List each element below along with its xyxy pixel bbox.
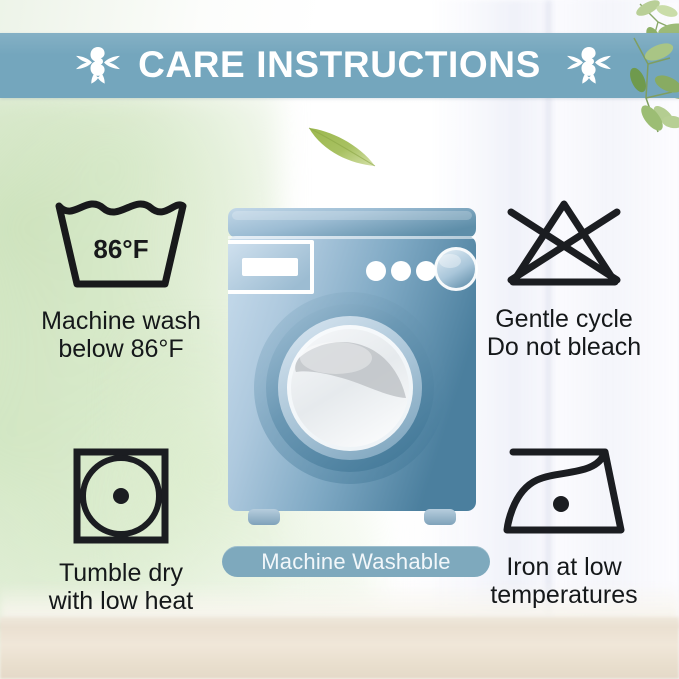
control-dot-3 <box>416 261 436 281</box>
label-line-1: Gentle cycle <box>466 305 662 333</box>
machine-foot-left <box>248 509 280 525</box>
symbol-iron-low: Iron at low temperatures <box>466 446 662 609</box>
status-badge-label: Machine Washable <box>261 549 450 575</box>
symbol-label-do-not-bleach: Gentle cycle Do not bleach <box>466 305 662 361</box>
floating-green-leaf-icon <box>303 118 381 172</box>
label-line-1: Tumble dry <box>26 559 216 587</box>
front-load-washing-machine-icon <box>224 206 480 536</box>
symbol-do-not-bleach: Gentle cycle Do not bleach <box>466 196 662 361</box>
fleur-de-lis-icon-right <box>559 43 611 89</box>
wash-temperature-value: 86°F <box>93 234 148 264</box>
iron-low-icon <box>466 446 662 545</box>
control-dot-1 <box>366 261 386 281</box>
label-line-2: with low heat <box>26 587 216 615</box>
wash-tub-icon: 86°F <box>26 196 216 299</box>
symbol-label-machine-wash: Machine wash below 86°F <box>26 307 216 363</box>
label-line-2: below 86°F <box>26 335 216 363</box>
label-line-1: Iron at low <box>466 553 662 581</box>
tumble-dry-low-icon <box>26 446 216 551</box>
control-dot-2 <box>391 261 411 281</box>
symbol-label-iron-low: Iron at low temperatures <box>466 553 662 609</box>
bleach-triangle-crossed-icon <box>466 196 662 297</box>
care-instructions-graphic: CARE INSTRUCTIONS <box>0 0 679 679</box>
symbol-machine-wash: 86°F Machine wash below 86°F <box>26 196 216 363</box>
label-line-1: Machine wash <box>26 307 216 335</box>
background-wood-surface <box>0 617 679 679</box>
symbol-tumble-dry: Tumble dry with low heat <box>26 446 216 615</box>
status-badge: Machine Washable <box>222 546 490 577</box>
label-line-2: temperatures <box>466 581 662 609</box>
label-line-2: Do not bleach <box>466 333 662 361</box>
fleur-de-lis-icon-left <box>68 43 120 89</box>
machine-foot-right <box>424 509 456 525</box>
header-banner: CARE INSTRUCTIONS <box>0 33 679 98</box>
symbol-label-tumble-dry: Tumble dry with low heat <box>26 559 216 615</box>
page-title: CARE INSTRUCTIONS <box>138 46 541 85</box>
